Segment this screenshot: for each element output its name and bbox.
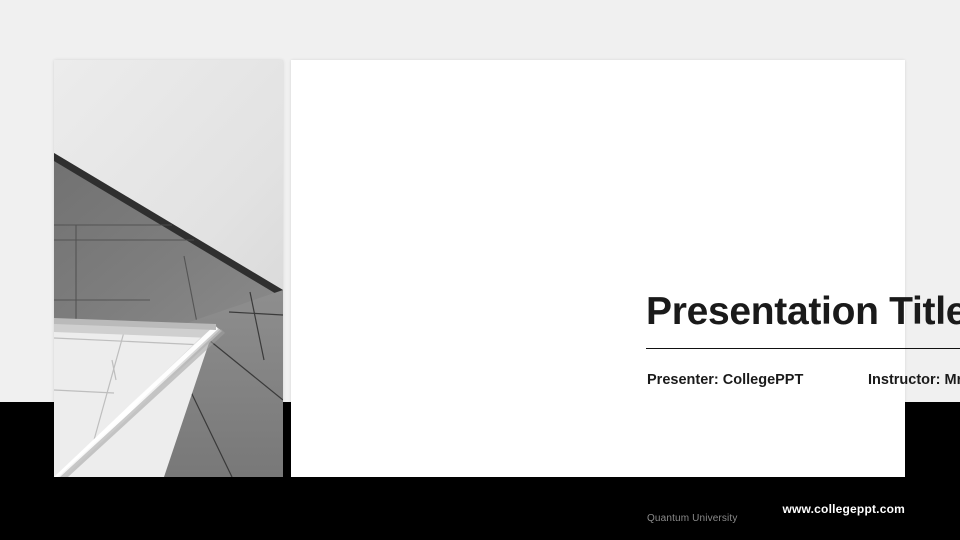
presenter-label: Presenter: CollegePPT [647, 371, 868, 389]
organization-label: Quantum University [647, 512, 738, 525]
slide-card[interactable]: Presentation Title Goes Here Presenter: … [291, 60, 905, 477]
footer-url[interactable]: www.collegeppt.com [782, 502, 905, 516]
title-divider [646, 348, 960, 349]
instructor-label: Instructor: Mr.Lu [868, 371, 960, 389]
slide-preview-canvas: www.collegeppt.com [0, 0, 960, 540]
page-title: Presentation Title Goes Here [646, 289, 960, 335]
architecture-staircase-photo [54, 60, 283, 477]
presenter-instructor-line: Presenter: CollegePPTInstructor: Mr.Lu [647, 371, 960, 389]
